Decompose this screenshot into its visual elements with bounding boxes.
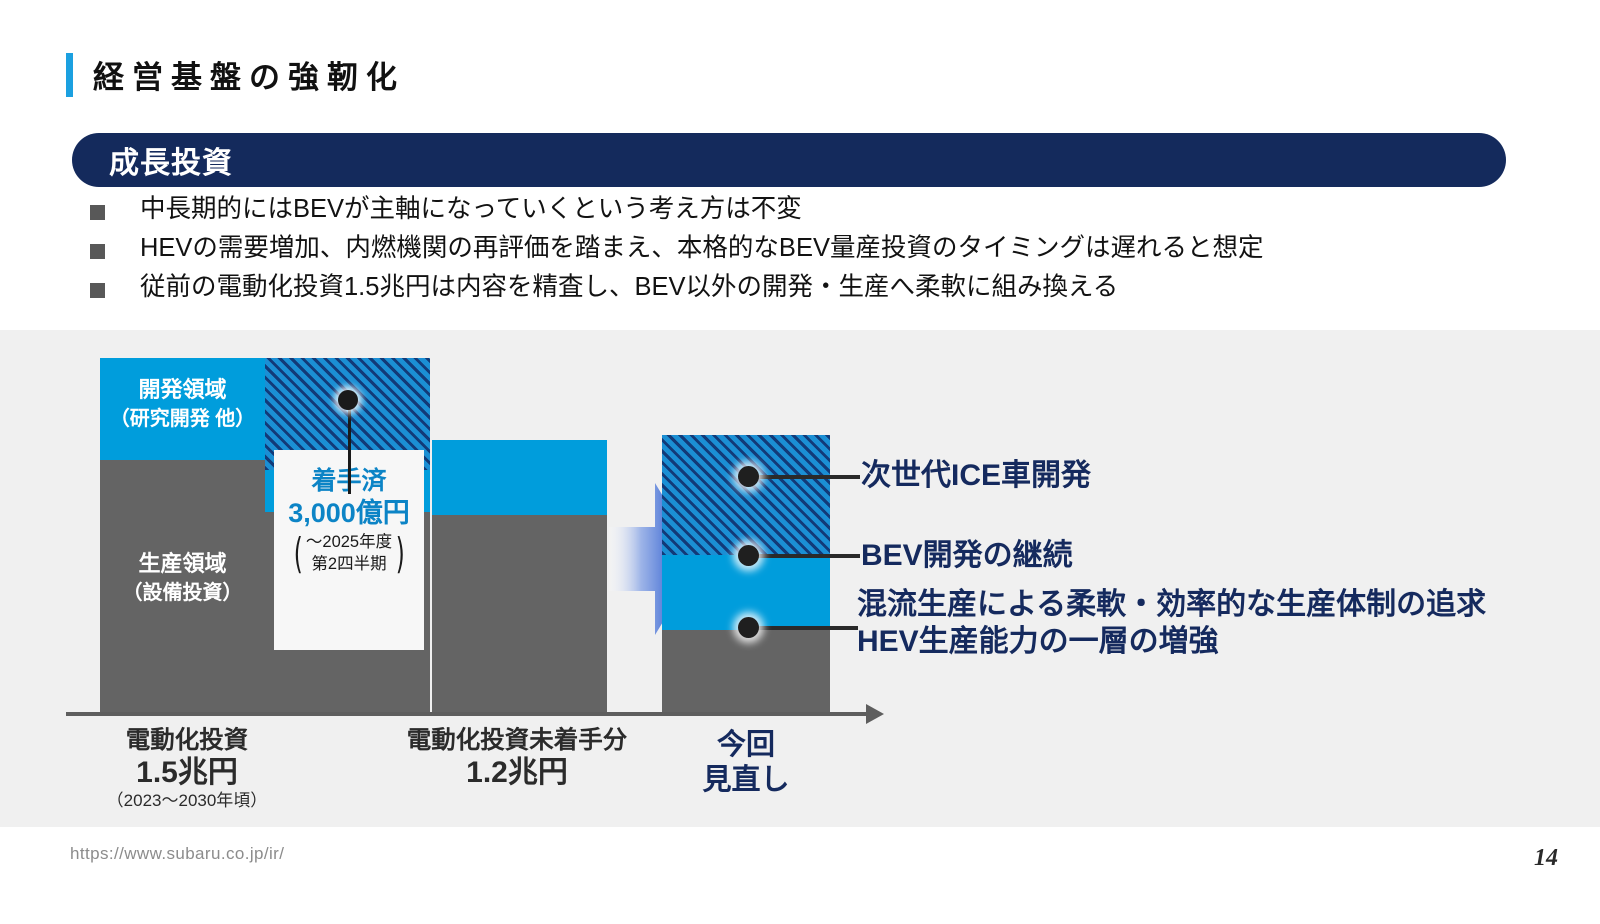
axis-label-uncommitted-investment: 電動化投資未着手分 1.2兆円 (372, 726, 662, 791)
axis-label-electrification-investment: 電動化投資 1.5兆円 （2023〜2030年頃） (72, 726, 302, 812)
bullet-list: 中長期的にはBEVが主軸になっていくという考え方は不変 HEVの需要増加、内燃機… (90, 195, 1570, 312)
bullet-square-icon (90, 283, 105, 298)
page-title: 経営基盤の強靭化 (93, 52, 405, 97)
annotation-production: 混流生産による柔軟・効率的な生産体制の追求 HEV生産能力の一層の増強 (857, 587, 1486, 660)
bullet-text: HEVの需要増加、内燃機関の再評価を踏まえ、本格的なBEV量産投資のタイミングは… (140, 234, 1263, 263)
committed-period-text: 〜2025年度 第2四半期 (306, 532, 392, 575)
bracket-right-glyph: ) (396, 539, 405, 568)
section-banner: 成長投資 (72, 133, 1506, 187)
list-item: 従前の電動化投資1.5兆円は内容を精査し、BEV以外の開発・生産へ柔軟に組み換え… (90, 273, 1570, 312)
bar1-production-label: 生産領域 （設備投資） (100, 550, 265, 606)
annotation-1-dot (738, 545, 759, 566)
annotation-2-leader-line (748, 626, 858, 630)
bracket-left-glyph: ( (293, 539, 302, 568)
bar1-development-label: 開発領域 （研究開発 他） (100, 376, 265, 432)
annotation-0-dot (738, 466, 759, 487)
slide-header: 経営基盤の強靭化 (66, 52, 405, 97)
bar1-development-segment: 開発領域 （研究開発 他） (100, 358, 265, 460)
chart-axis-arrow-icon (866, 704, 884, 724)
bullet-text: 中長期的にはBEVが主軸になっていくという考え方は不変 (140, 195, 802, 224)
bar2-production-segment (432, 515, 607, 712)
bullet-square-icon (90, 205, 105, 220)
axis-label-current-revision: 今回 見直し (662, 728, 830, 798)
bar3-production-segment (662, 630, 830, 712)
committed-callout-dot (338, 390, 358, 410)
bar1-production-segment: 生産領域 （設備投資） (100, 460, 265, 712)
chart-axis-line (66, 712, 871, 716)
bullet-square-icon (90, 244, 105, 259)
list-item: HEVの需要増加、内燃機関の再評価を踏まえ、本格的なBEV量産投資のタイミングは… (90, 234, 1570, 273)
annotation-0-leader-line (748, 475, 860, 479)
annotation-2-dot (738, 617, 759, 638)
committed-callout-leader-line (348, 398, 351, 494)
bar3-next-gen-ice-segment (662, 435, 830, 555)
footer-url[interactable]: https://www.subaru.co.jp/ir/ (70, 844, 284, 864)
page-number: 14 (1534, 845, 1558, 872)
annotation-production-line2: HEV生産能力の一層の増強 (857, 625, 1219, 658)
annotation-1-leader-line (748, 554, 860, 558)
bullet-text: 従前の電動化投資1.5兆円は内容を精査し、BEV以外の開発・生産へ柔軟に組み換え… (140, 273, 1118, 302)
section-banner-label: 成長投資 (109, 138, 233, 182)
list-item: 中長期的にはBEVが主軸になっていくという考え方は不変 (90, 195, 1570, 234)
header-accent-bar (66, 53, 73, 97)
annotation-production-line1: 混流生産による柔軟・効率的な生産体制の追求 (857, 588, 1486, 621)
annotation-next-gen-ice: 次世代ICE車開発 (861, 458, 1091, 495)
chart-panel: 開発領域 （研究開発 他） 生産領域 （設備投資） 着手済 3,000億円 ( … (0, 330, 1600, 827)
committed-amount: 3,000億円 (274, 497, 424, 530)
bar2-development-segment (432, 440, 607, 515)
annotation-bev-development: BEV開発の継続 (861, 538, 1073, 575)
committed-period-bracket: ( 〜2025年度 第2四半期 ) (274, 532, 424, 575)
